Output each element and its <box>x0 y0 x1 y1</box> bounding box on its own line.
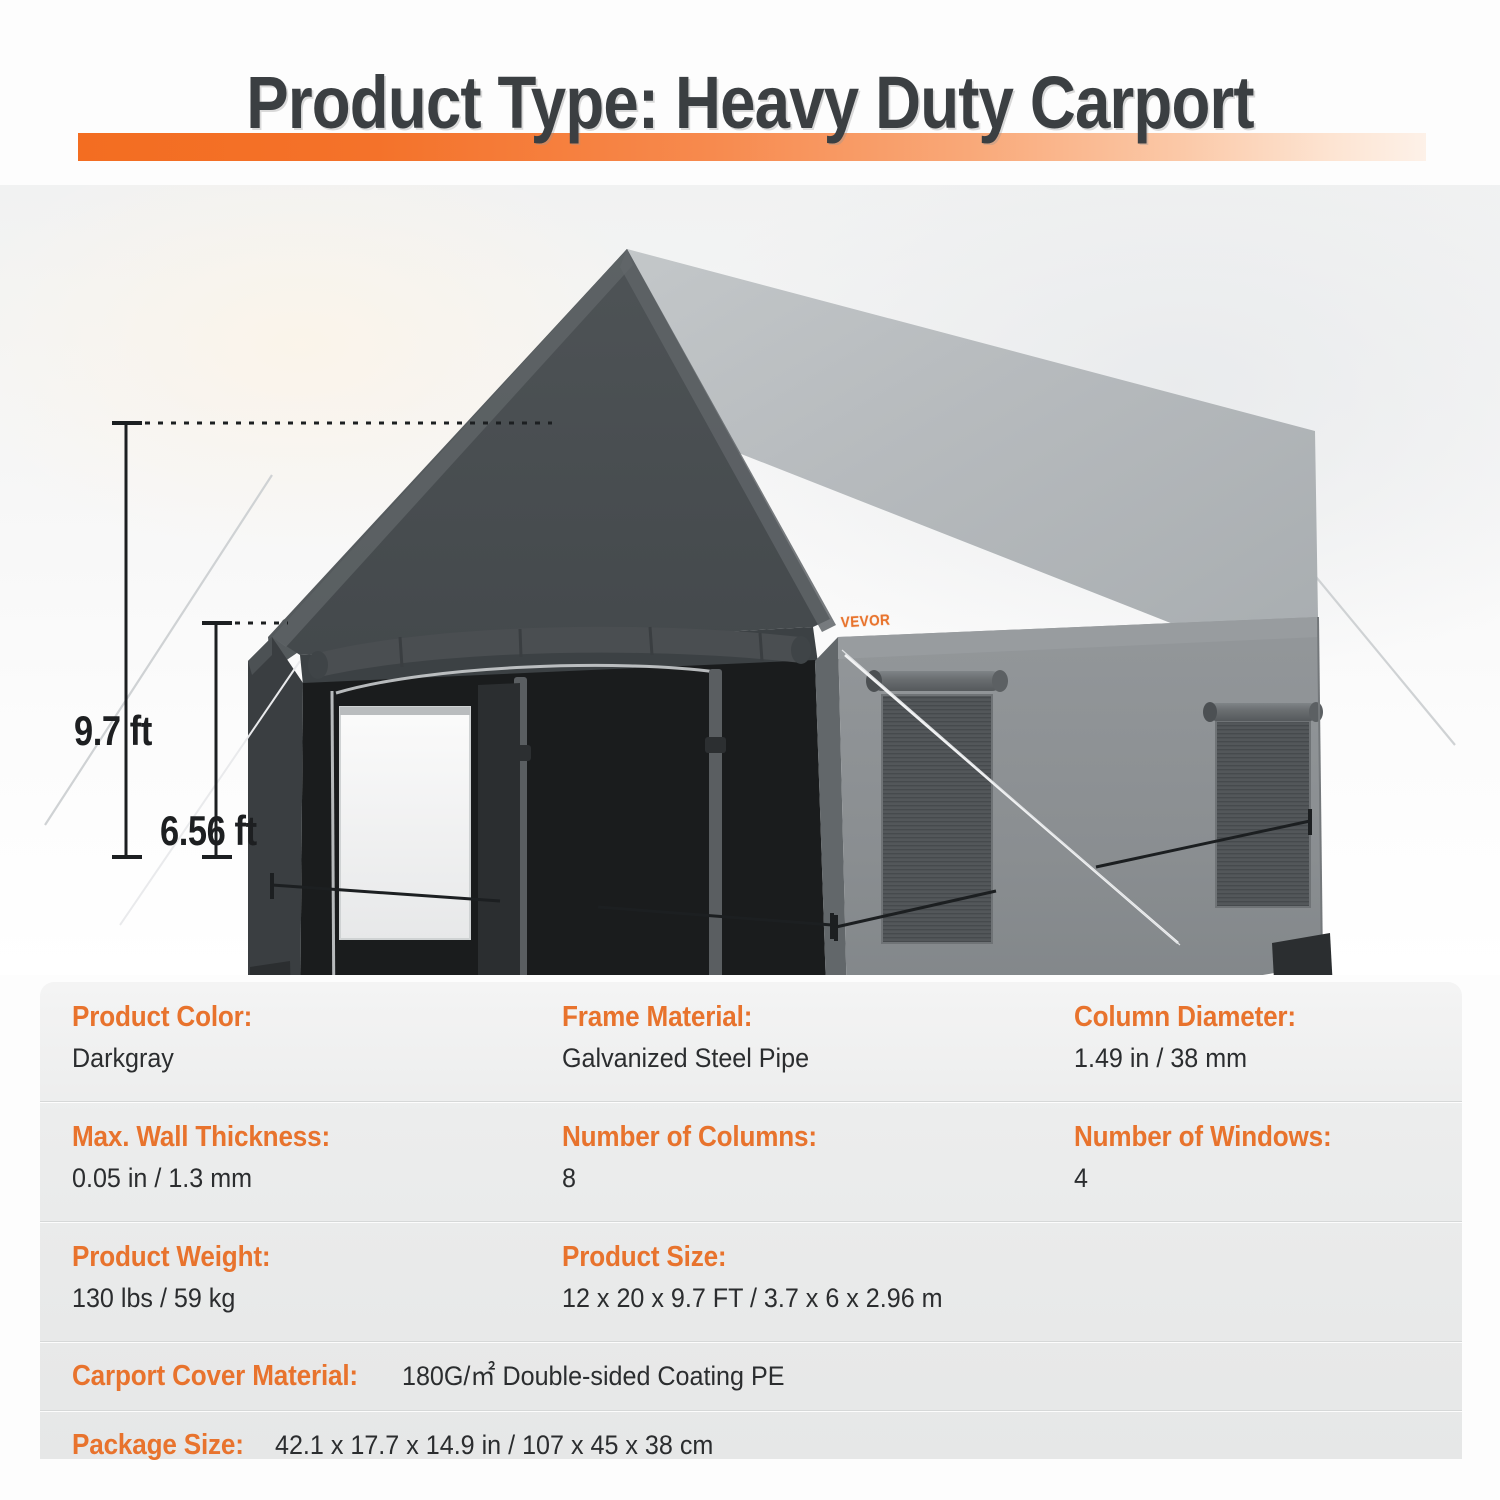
roll-end-cap-right <box>791 636 811 664</box>
side-window-2 <box>1203 702 1323 907</box>
spec-cell-product-color: Product Color: Darkgray <box>40 982 530 1101</box>
specification-table: Product Color: Darkgray Frame Material: … <box>40 982 1462 1460</box>
carport-drawing <box>0 185 1500 975</box>
spec-label: Product Size: <box>562 1240 994 1274</box>
spec-label: Package Size: <box>72 1428 244 1460</box>
spec-label: Carport Cover Material: <box>72 1359 358 1393</box>
roll-end-cap-left <box>308 651 328 679</box>
spec-cell-product-size: Product Size: 12 x 20 x 9.7 FT / 3.7 x 6… <box>530 1222 1042 1341</box>
side-window-2-roll-tube <box>1208 703 1318 721</box>
spec-label: Number of Windows: <box>1074 1120 1423 1154</box>
spec-value: Galvanized Steel Pipe <box>562 1040 1008 1076</box>
table-row: Max. Wall Thickness: 0.05 in / 1.3 mm Nu… <box>40 1102 1462 1222</box>
spec-value: 130 lbs / 59 kg <box>72 1280 498 1316</box>
table-row: Product Weight: 130 lbs / 59 kg Product … <box>40 1222 1462 1342</box>
spec-value: 0.05 in / 1.3 mm <box>72 1160 498 1196</box>
dimension-label-eave-height: 6.56 ft <box>160 807 257 855</box>
spec-cell-max-wall-thickness: Max. Wall Thickness: 0.05 in / 1.3 mm <box>40 1102 530 1221</box>
spec-cell-column-diameter: Column Diameter: 1.49 in / 38 mm <box>1042 982 1462 1101</box>
table-row: Package Size: 42.1 x 17.7 x 14.9 in / 10… <box>40 1411 1462 1460</box>
spec-value: 1.49 in / 38 mm <box>1074 1040 1435 1076</box>
spec-cell-number-of-columns: Number of Columns: 8 <box>530 1102 1042 1221</box>
front-wall-mid-panel <box>478 683 520 975</box>
side-window-1 <box>866 670 1008 943</box>
spec-cell-product-weight: Product Weight: 130 lbs / 59 kg <box>40 1222 530 1341</box>
side-window-1-roll-tube <box>872 671 1002 691</box>
spec-label: Column Diameter: <box>1074 1000 1423 1034</box>
product-illustration: 9.7 ft 6.56 ft 12 ft 20 ft VEVOR <box>0 185 1500 975</box>
spec-label: Frame Material: <box>562 1000 994 1034</box>
spec-cell-empty <box>1042 1222 1462 1341</box>
spec-label: Max. Wall Thickness: <box>72 1120 484 1154</box>
page-title: Product Type: Heavy Duty Carport <box>105 60 1395 145</box>
table-row: Carport Cover Material: 180G/㎡ Double-si… <box>40 1342 1462 1411</box>
table-row: Product Color: Darkgray Frame Material: … <box>40 982 1462 1102</box>
spec-cell-number-of-windows: Number of Windows: 4 <box>1042 1102 1462 1221</box>
spec-value: 180G/㎡ Double-sided Coating PE <box>402 1358 784 1394</box>
dimension-label-peak-height: 9.7 ft <box>74 707 152 755</box>
spec-label: Product Weight: <box>72 1240 484 1274</box>
front-window-header <box>340 707 470 715</box>
spec-label: Number of Columns: <box>562 1120 994 1154</box>
spec-value: 8 <box>562 1160 1008 1196</box>
spec-value: 12 x 20 x 9.7 FT / 3.7 x 6 x 2.96 m <box>562 1280 1008 1316</box>
front-left-wall <box>248 637 303 975</box>
spec-label: Product Color: <box>72 1000 484 1034</box>
spec-cell-package-size: Package Size: 42.1 x 17.7 x 14.9 in / 10… <box>40 1427 746 1460</box>
spec-value: 4 <box>1074 1160 1435 1196</box>
header: Product Type: Heavy Duty Carport <box>0 0 1500 190</box>
spec-value: 42.1 x 17.7 x 14.9 in / 107 x 45 x 38 cm <box>275 1427 713 1460</box>
vevor-brand-logo: VEVOR <box>840 612 890 632</box>
product-infographic-page: Product Type: Heavy Duty Carport <box>0 0 1500 1500</box>
spec-cell-cover-material: Carport Cover Material: 180G/㎡ Double-si… <box>40 1358 813 1394</box>
spec-value: Darkgray <box>72 1040 498 1076</box>
front-window-panel <box>340 707 470 939</box>
spec-cell-frame-material: Frame Material: Galvanized Steel Pipe <box>530 982 1042 1101</box>
